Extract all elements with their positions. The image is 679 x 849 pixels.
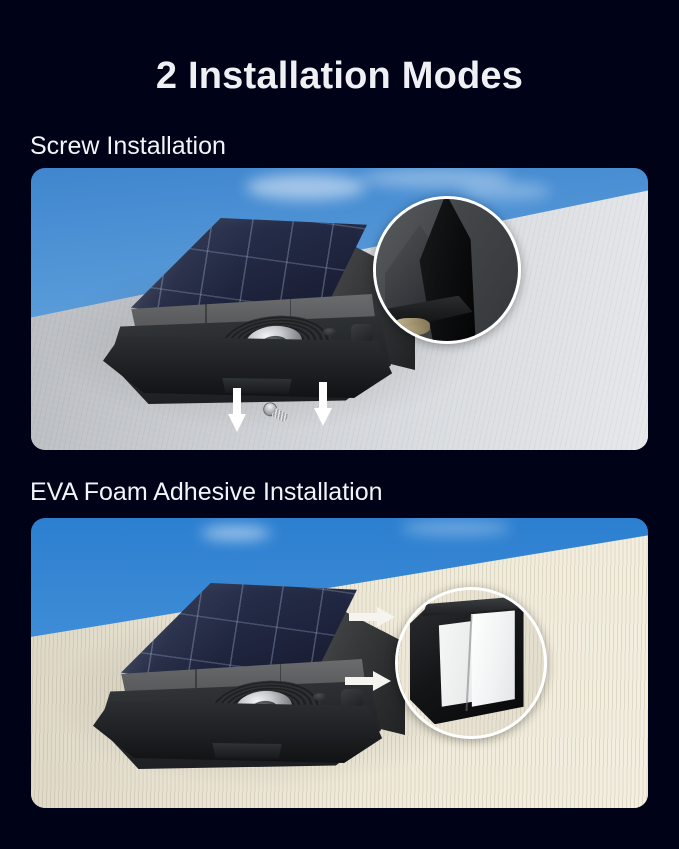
arrow-shaft [345, 677, 375, 685]
scene-screw-installation [31, 168, 648, 450]
section-label-screw-installation: Screw Installation [30, 132, 226, 161]
arrow-head [373, 671, 391, 691]
arrow-shaft [349, 613, 379, 621]
power-button [351, 324, 373, 342]
callout-eva-foam-pad-liner [471, 610, 515, 706]
scene-eva-foam-installation [31, 518, 648, 808]
infographic-page: 2 Installation Modes Screw Installation [0, 0, 679, 849]
device-bottom-tab [211, 743, 283, 759]
callout-eva-foam-closeup [395, 587, 547, 739]
photo-panel-eva-foam-installation [31, 518, 648, 808]
section-label-eva-foam-installation: EVA Foam Adhesive Installation [30, 478, 383, 507]
photo-panel-screw-installation [31, 168, 648, 450]
arrow-right-upper [349, 607, 395, 627]
callout-brass-glint [393, 318, 430, 335]
arrow-down-left [228, 388, 246, 432]
arrow-head [314, 408, 332, 426]
housing-screw-hole [313, 693, 327, 701]
arrow-shaft [319, 382, 327, 410]
arrow-right-lower [345, 671, 391, 691]
page-title: 2 Installation Modes [0, 55, 679, 98]
arrow-head [377, 607, 395, 627]
solar-light-device [101, 208, 413, 408]
arrow-shaft [233, 388, 241, 416]
callout-screw-mount-closeup [373, 196, 521, 344]
housing-screw-hole [323, 328, 337, 336]
power-button [341, 689, 363, 707]
arrow-head [228, 414, 246, 432]
arrow-down-right [314, 382, 332, 426]
